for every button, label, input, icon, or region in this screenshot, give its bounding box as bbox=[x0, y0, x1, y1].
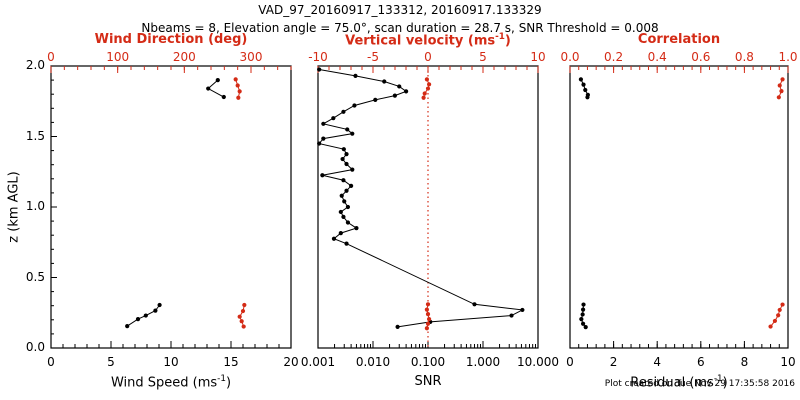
panel1-x-axis-label: Wind Speed (ms-1) bbox=[111, 374, 231, 390]
panel1-xtick-4: 20 bbox=[283, 355, 298, 369]
panel2-xtick-3: 1.000 bbox=[466, 355, 500, 369]
panel1-series-2 bbox=[234, 77, 242, 100]
panel1-series-3 bbox=[238, 303, 247, 329]
panel1-top-axis-label: Wind Direction (deg) bbox=[95, 32, 248, 47]
panel3-top-tick-1: 0.2 bbox=[604, 50, 623, 64]
panel3-top-tick-0: 0.0 bbox=[560, 50, 579, 64]
figure-root: VAD_97_20160917_133312, 20160917.133329 … bbox=[0, 0, 800, 400]
panel3-xtick-4: 8 bbox=[741, 355, 749, 369]
panel2-xtick-4: 10.000 bbox=[517, 355, 559, 369]
panel3-top-axis-label: Correlation bbox=[638, 32, 720, 47]
panel1-top-tick-1: 100 bbox=[106, 50, 129, 64]
panel3-xtick-0: 0 bbox=[566, 355, 574, 369]
panel3-top-tick-5: 1.0 bbox=[778, 50, 797, 64]
panel2-top-tick-2: 0 bbox=[424, 50, 432, 64]
panel2-top-tick-3: 5 bbox=[479, 50, 487, 64]
y-axis-label: z (km AGL) bbox=[7, 171, 22, 242]
panel1-xtick-0: 0 bbox=[47, 355, 55, 369]
panel2-xtick-1: 0.010 bbox=[356, 355, 390, 369]
y-tick-label-2: 1.0 bbox=[26, 199, 45, 213]
panel2-series-0 bbox=[317, 67, 524, 329]
panel3-x-axis-label: Residual (ms-1) bbox=[630, 374, 727, 390]
panel1-xtick-1: 5 bbox=[107, 355, 115, 369]
panel3-xtick-1: 2 bbox=[610, 355, 618, 369]
panel3-series-2 bbox=[777, 77, 785, 99]
panel1-top-tick-2: 200 bbox=[173, 50, 196, 64]
panel3-series-3 bbox=[768, 302, 784, 328]
panel2-top-tick-1: -5 bbox=[367, 50, 379, 64]
panel2-xtick-2: 0.100 bbox=[411, 355, 445, 369]
panel1-xtick-3: 15 bbox=[223, 355, 238, 369]
panel2-x-axis-label: SNR bbox=[414, 374, 441, 389]
panel3-series-0 bbox=[579, 77, 590, 99]
y-tick-label-1: 0.5 bbox=[26, 270, 45, 284]
panel3-xtick-3: 6 bbox=[697, 355, 705, 369]
panel1-series-0 bbox=[206, 78, 226, 99]
panel2-series-2 bbox=[425, 302, 431, 330]
panel3-top-tick-4: 0.8 bbox=[735, 50, 754, 64]
panel1-series-1 bbox=[125, 303, 162, 328]
panel2-top-axis-label: Vertical velocity (ms-1) bbox=[345, 32, 511, 48]
panel2-series-1 bbox=[422, 77, 432, 100]
panel2-xtick-0: 0.001 bbox=[301, 355, 335, 369]
panel3-xtick-5: 10 bbox=[780, 355, 795, 369]
y-tick-label-0: 0.0 bbox=[26, 340, 45, 354]
y-tick-label-4: 2.0 bbox=[26, 58, 45, 72]
panel1-top-tick-0: 0 bbox=[47, 50, 55, 64]
panel3-xtick-2: 4 bbox=[653, 355, 661, 369]
panel1-top-tick-3: 300 bbox=[240, 50, 263, 64]
panel3-series-1 bbox=[579, 302, 588, 329]
panel2-top-tick-4: 10 bbox=[530, 50, 545, 64]
panel1-xtick-2: 10 bbox=[163, 355, 178, 369]
panel2-top-tick-0: -10 bbox=[308, 50, 328, 64]
panel3-top-tick-2: 0.4 bbox=[648, 50, 667, 64]
y-tick-label-3: 1.5 bbox=[26, 129, 45, 143]
panel3-top-tick-3: 0.6 bbox=[691, 50, 710, 64]
